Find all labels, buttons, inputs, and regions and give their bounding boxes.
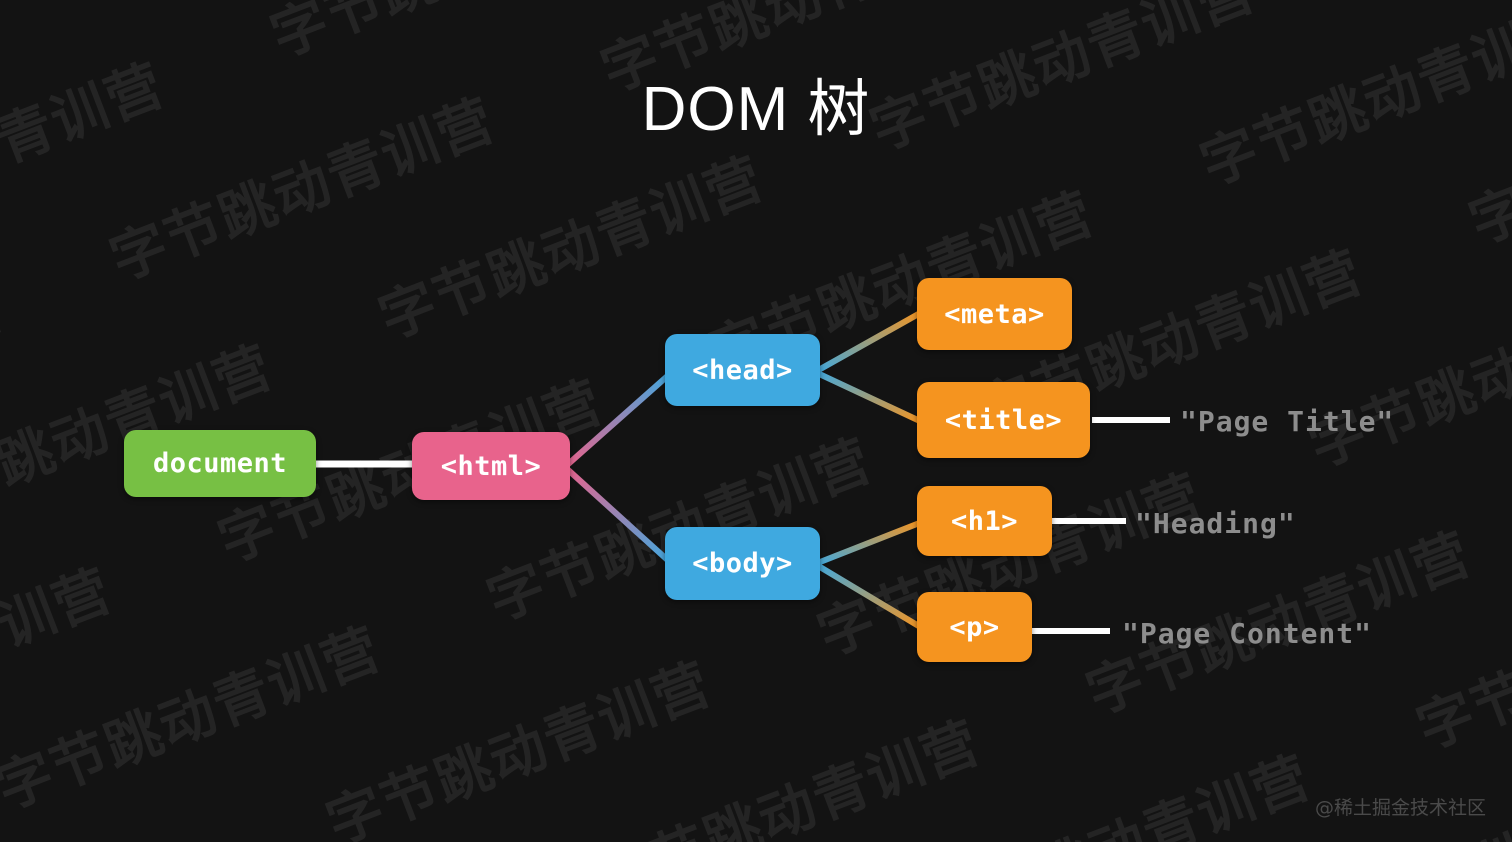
node-h1[interactable]: <h1> [917,486,1052,556]
edge-head-title [815,372,922,422]
node-label: <body> [692,548,793,579]
node-html[interactable]: <html> [412,432,570,500]
node-body[interactable]: <body> [665,527,820,600]
node-meta[interactable]: <meta> [917,278,1072,350]
node-label: <h1> [951,506,1018,537]
text-node-page-content: "Page Content" [1122,617,1372,650]
edge-head-meta [815,312,922,372]
credit-watermark: @稀土掘金技术社区 [1315,793,1486,820]
text-node-page-title: "Page Title" [1180,405,1394,438]
node-title[interactable]: <title> [917,382,1090,458]
node-document[interactable]: document [124,430,316,497]
edge-body-p [815,564,922,628]
node-label: <html> [441,451,542,482]
node-label: <meta> [944,299,1045,330]
edge-html-body [566,468,672,564]
edge-html-head [566,372,672,466]
node-label: <title> [945,405,1062,436]
text-node-heading: "Heading" [1135,507,1296,540]
node-p[interactable]: <p> [917,592,1032,662]
node-label: document [153,448,287,479]
edge-body-h1 [815,522,922,564]
node-head[interactable]: <head> [665,334,820,406]
slide-canvas: 字节跳动青训营 字节跳动青训营 字节跳动青训营 字节跳动青训营 字节跳动青训营 … [0,0,1512,842]
node-label: <head> [692,355,793,386]
node-label: <p> [949,612,999,643]
page-title: DOM 树 [0,58,1512,148]
